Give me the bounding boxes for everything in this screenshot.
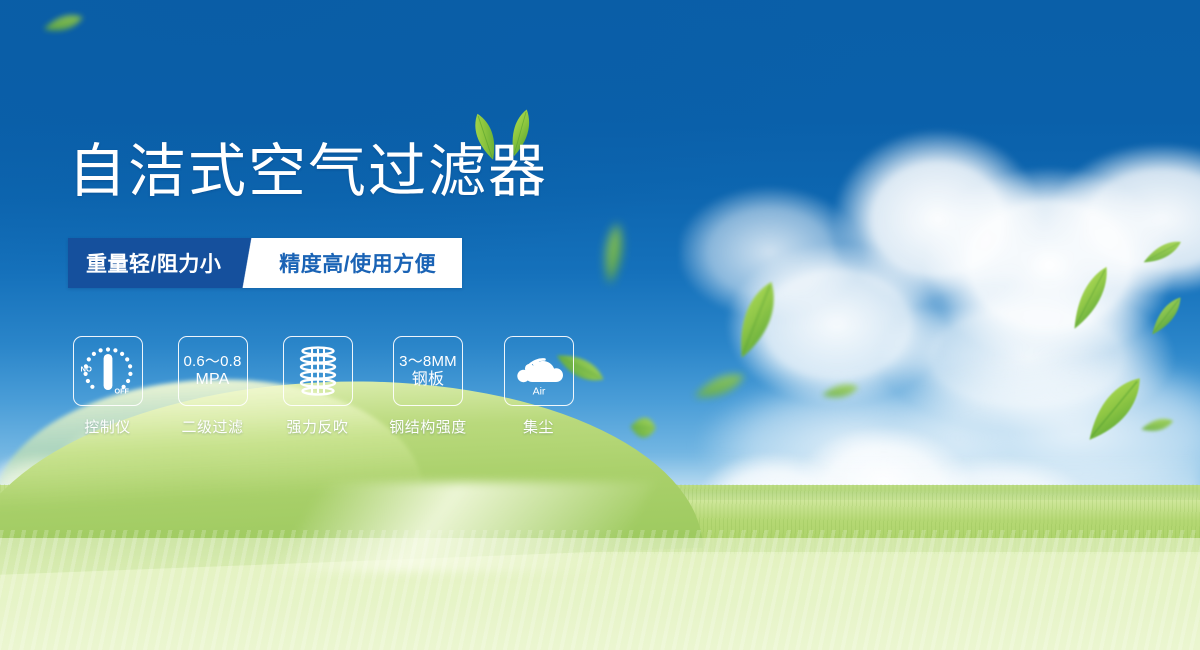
feature-icon-box: 0.6～0.8 MPA [178, 336, 248, 406]
air-caption: Air [532, 386, 545, 398]
gauge-icon: NO OFF [78, 341, 138, 401]
page-title: 自洁式空气过滤器 [68, 141, 548, 203]
pressure-line-1: 0.6～0.8 [183, 353, 241, 371]
subtitle-bar: 重量轻/阻力小 精度高/使用方便 [68, 238, 462, 288]
banner-stage: 自洁式空气过滤器 重量轻/阻力小 精度高/使用方便 [0, 0, 1200, 650]
foreground-texture [0, 530, 1200, 650]
feature-icon-box: NO OFF [73, 336, 143, 406]
feature-label: 集尘 [523, 416, 554, 437]
subtitle-right: 精度高/使用方便 [267, 238, 462, 288]
svg-text:OFF: OFF [114, 387, 129, 396]
pressure-text-icon: 0.6～0.8 MPA [183, 353, 241, 389]
filter-stack-icon [292, 343, 344, 399]
feature-item-pressure[interactable]: 0.6～0.8 MPA 二级过滤 [175, 336, 250, 437]
feature-label: 二级过滤 [181, 416, 243, 437]
svg-text:NO: NO [80, 365, 91, 374]
feature-item-dust-collection[interactable]: Air 集尘 [501, 336, 576, 437]
feature-list: NO OFF 控制仪 0.6～0.8 MPA 二级过滤 [70, 336, 576, 437]
feature-item-control-gauge[interactable]: NO OFF 控制仪 [70, 336, 145, 437]
subtitle-left: 重量轻/阻力小 [68, 238, 237, 288]
feature-item-steel[interactable]: 3～8MM 钢板 钢结构强度 [385, 336, 471, 437]
air-cloud-icon: Air [511, 343, 567, 399]
feature-label: 强力反吹 [286, 416, 348, 437]
steel-plate-text-icon: 3～8MM 钢板 [399, 353, 457, 389]
feature-label: 钢结构强度 [389, 416, 467, 437]
subtitle-divider [237, 238, 267, 288]
pressure-line-2: MPA [183, 371, 241, 389]
feature-label: 控制仪 [84, 416, 131, 437]
feature-icon-box [283, 336, 353, 406]
feature-item-blowback[interactable]: 强力反吹 [280, 336, 355, 437]
steel-line-1: 3～8MM [399, 353, 457, 371]
feature-icon-box: 3～8MM 钢板 [393, 336, 463, 406]
feature-icon-box: Air [504, 336, 574, 406]
steel-line-2: 钢板 [399, 371, 457, 389]
